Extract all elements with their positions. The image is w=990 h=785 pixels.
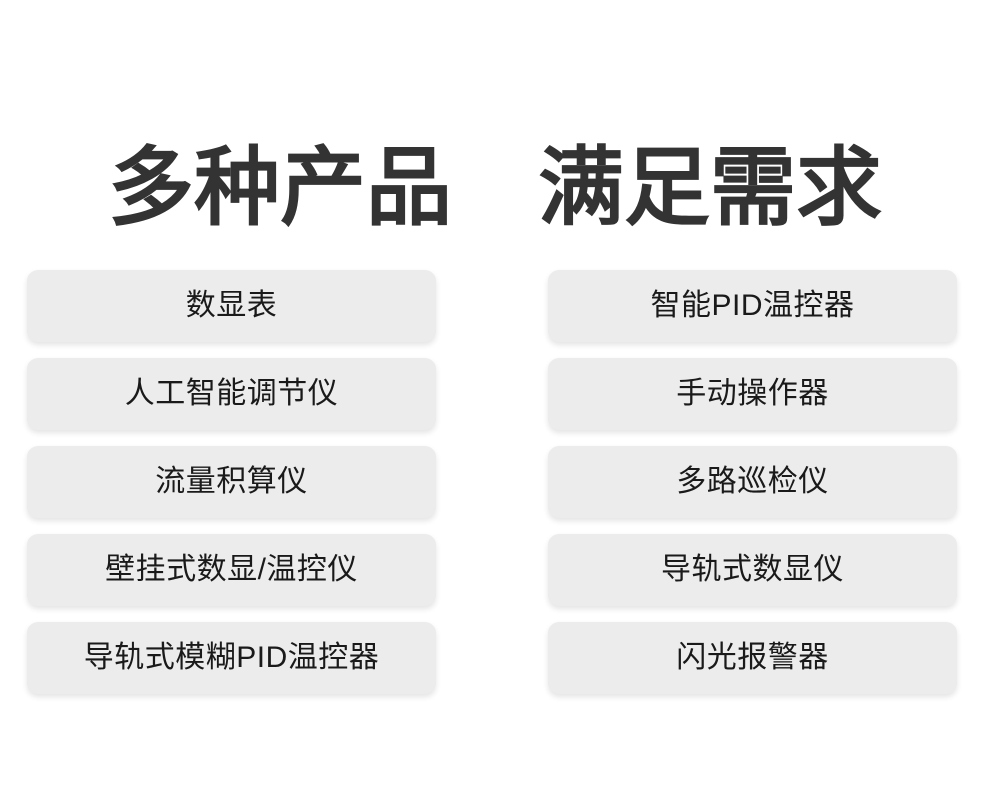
product-card-shanguang-baojingqi[interactable]: 闪光报警器 [548,622,957,694]
product-card-shoudong-caozuoqi[interactable]: 手动操作器 [548,358,957,430]
product-overview-page: 多种产品 满足需求 数显表 智能PID温控器 人工智能调节仪 手动操作器 流量积… [0,0,990,785]
product-card-duolu-xunjianyi[interactable]: 多路巡检仪 [548,446,957,518]
product-card-label: 手动操作器 [676,379,829,409]
product-card-label: 壁挂式数显/温控仪 [105,555,358,585]
product-card-zhinengpid-wenkongqi[interactable]: 智能PID温控器 [548,270,957,342]
product-card-label: 导轨式数显仪 [661,555,844,585]
product-card-biguashi-shuxian-wenkongyi[interactable]: 壁挂式数显/温控仪 [27,534,436,606]
product-card-shuxianbiao[interactable]: 数显表 [27,270,436,342]
product-card-label: 导轨式模糊PID温控器 [84,643,380,673]
product-card-daoguishi-shuxianyi[interactable]: 导轨式数显仪 [548,534,957,606]
product-card-rengong-zhineng-tiaojieyi[interactable]: 人工智能调节仪 [27,358,436,430]
product-card-label: 数显表 [186,291,278,321]
page-title: 多种产品 满足需求 [0,136,990,240]
product-card-label: 智能PID温控器 [650,291,854,321]
product-card-label: 流量积算仪 [155,467,308,497]
product-card-label: 人工智能调节仪 [125,379,339,409]
product-card-label: 闪光报警器 [676,643,829,673]
product-card-label: 多路巡检仪 [676,467,829,497]
product-card-daoguishi-mohu-pid-wenkongqi[interactable]: 导轨式模糊PID温控器 [27,622,436,694]
product-card-liuliang-jisuanyi[interactable]: 流量积算仪 [27,446,436,518]
product-category-grid: 数显表 智能PID温控器 人工智能调节仪 手动操作器 流量积算仪 多路巡检仪 壁… [27,270,957,694]
